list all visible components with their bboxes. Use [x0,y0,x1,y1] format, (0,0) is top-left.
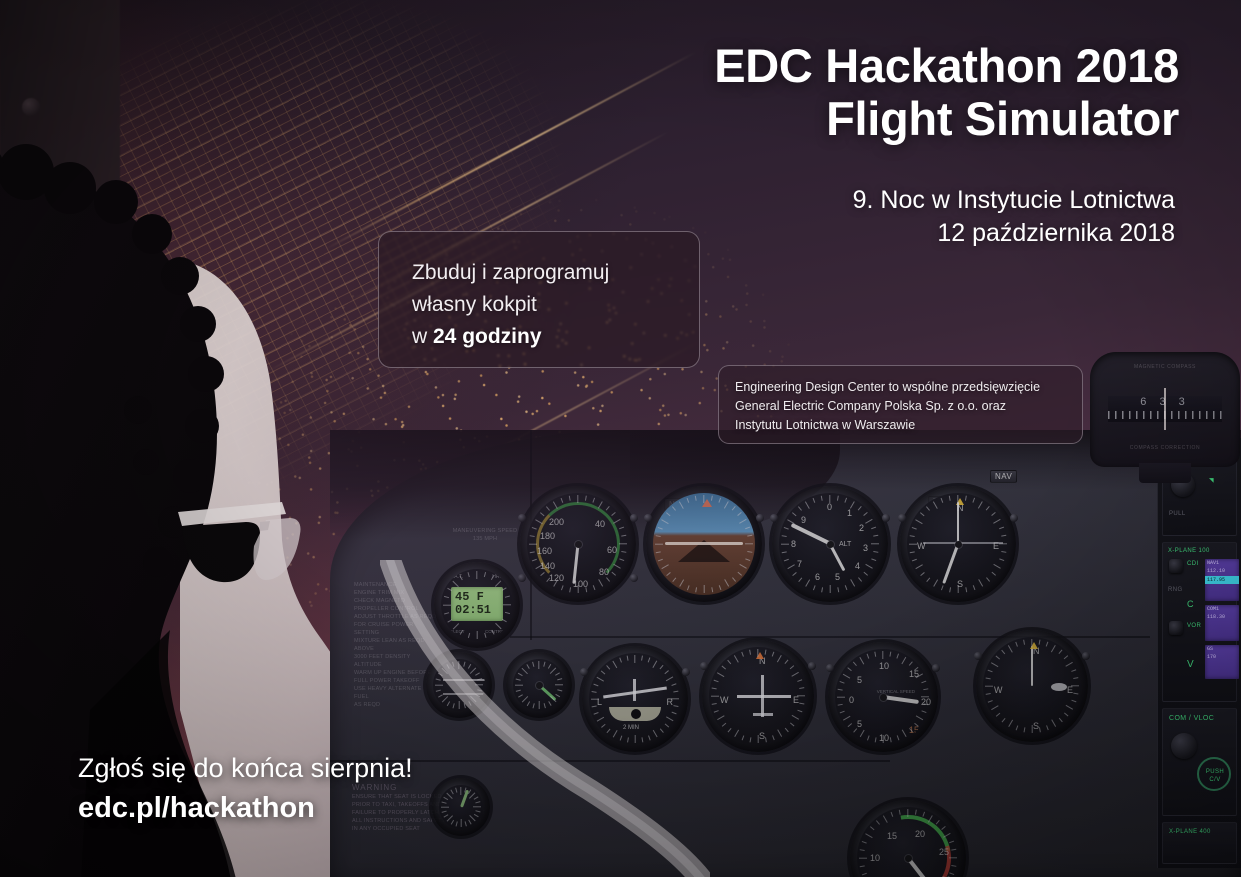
panel-screw [826,664,834,672]
gauge-tick [569,496,571,501]
gauge-tick [1065,705,1073,710]
horizontal-situation-indicator: N E S W [702,640,814,752]
gauge-tick [865,519,873,524]
gauge-tick [661,519,669,524]
vsi-number-10dn: 10 [879,733,889,743]
avionics-screen-row: COM1 [1205,605,1239,613]
gauge-tick [996,712,1001,716]
gauge-tick [916,715,924,720]
dg-needle [957,502,960,544]
gauge-tick [1015,725,1018,730]
gauge-tick [850,501,855,509]
gauge-tick [813,498,816,503]
gauge-tick [739,519,747,524]
vsi-face: 0 5 10 15 20 5 10 15 VERTICAL SPEED [835,649,931,745]
gauge-tick [621,535,626,537]
gauge-tick [837,496,839,501]
gauge-tick [978,579,983,587]
gauge-tick [666,512,671,516]
altimeter-needle-hundreds [790,523,831,546]
gauge-tick [933,501,938,509]
gauge-tick [923,688,928,690]
vsi-number-zero: 0 [849,695,854,705]
radio-magnetic-indicator: N E S W [976,630,1088,742]
gauge-tick [862,841,867,844]
avionics-screen-row-active: 117.95 [1205,576,1239,584]
gauge-tick [732,577,736,582]
gauge-tick [991,512,996,516]
gauge-tick [838,703,843,705]
gauge-tick [941,826,946,830]
gauge-tick [724,501,729,509]
cta-line-1: Zbuduj i zaprogramuj [412,257,699,289]
rmi-needle [1031,646,1034,686]
alt-number: 1 [847,508,852,518]
gauge-tick [1046,642,1049,647]
avionics-button-cdi[interactable] [1169,559,1183,573]
gauge-tick [862,872,867,875]
gauge-tick [896,735,899,740]
gauge-tick [871,558,876,561]
alt-number: 5 [835,572,840,582]
gauge-tick [926,577,930,582]
gauge-tick [790,722,795,726]
gauge-tick [621,551,626,553]
panel-screw [882,514,890,522]
airspeed-hub [575,541,582,548]
compass-mount [1139,463,1191,483]
gauge-tick [805,579,810,587]
avionics-indicator-label: ◥ [1209,477,1214,484]
gauge-tick [658,527,663,530]
gauge-tick [909,543,917,544]
gauge-tick [991,662,999,667]
gauge-tick [889,737,891,742]
gauge-tick [844,585,847,590]
gauge-tick [687,498,690,503]
gauge-tick [787,564,795,569]
rmi-cardinal-w: W [994,685,1003,695]
gauge-tick [907,809,908,817]
attitude-horizon-bar [665,542,743,545]
gauge-tick [972,498,975,503]
avionics-screen-aux: GS 170 [1205,645,1239,679]
gauge-tick [727,660,731,665]
gauge-tick [784,527,789,530]
gauge-tick [1008,719,1013,727]
gauge-tick [921,696,929,697]
avionics-stack: ◥ PULL X-PLANE 100 NAV1 112.10 117.95 CO… [1157,438,1241,868]
gauge-tick [757,735,758,743]
vertical-speed-indicator: 0 5 10 15 20 5 10 15 VERTICAL SPEED [828,642,938,752]
gauge-tick [540,512,545,516]
gauge-tick [613,519,621,524]
gauge-tick [858,577,862,582]
avionics-unit-bottom[interactable]: X-PLANE 400 [1162,822,1237,864]
nav-tag: NAV [990,470,1017,483]
gauge-tick [985,685,993,686]
gauge-tick [1065,662,1073,667]
altimeter-hub [827,541,834,548]
gauge-tick [737,512,742,516]
gauge-tick [611,512,616,516]
gauge-tick [532,527,537,530]
poster-root: N1725P NAV TEST MANEUVERING SPEED135 MPH… [0,0,1241,877]
gauge-tick [986,693,991,695]
gauge-tick [717,672,725,677]
tach-red-line [857,807,959,877]
panel-screw [644,514,652,522]
gauge-tick [859,857,867,858]
panel-screw [756,514,764,522]
gauge-tick [999,543,1007,544]
alt-number: 4 [855,561,860,571]
panel-screw [1010,514,1018,522]
gauge-tick [915,810,917,815]
gauge-tick [741,735,744,740]
gauge-tick [529,543,537,544]
placard-speeds: MANEUVERING SPEED135 MPH [440,528,530,544]
gauge-tick [711,496,713,501]
gauge-tick [896,654,899,659]
gauge-tick [891,812,894,817]
vsi-number-20: 20 [921,697,931,707]
tach-number: 15 [887,831,897,841]
gauge-tick [920,512,925,516]
cta-line-3-emphasis: 24 godziny [433,325,542,348]
vsi-needle [883,695,919,704]
asi-number: 160 [537,546,552,556]
gauge-tick [936,820,940,825]
gauge-tick [829,585,830,593]
gauge-tick [1039,640,1041,645]
com-vloc-label: COM / VLOC [1169,715,1214,722]
gauge-tick [921,710,926,713]
gauge-tick [874,737,876,742]
gauge-tick [988,669,993,672]
gauge-tick [799,703,804,705]
gauge-tick [1039,727,1041,732]
gauge-tick [798,506,802,511]
gauge-tick [840,681,845,684]
gauge-tick [695,496,697,501]
gauge-tick [656,551,661,553]
gauge-tick [813,585,816,590]
compass-top-placard: MAGNETIC COMPASS [1112,364,1218,370]
alt-number: 0 [827,502,832,512]
gauge-tick [993,564,1001,569]
avionics-screen-row: GS [1205,645,1239,653]
gauge-tick [901,657,906,665]
gauge-tick [972,585,975,590]
gauge-tick [882,651,883,659]
gauge-tick [859,657,864,665]
altimeter-face: 0 1 2 3 4 5 6 7 8 9 ALT [779,493,881,595]
gauge-tick [951,865,956,867]
gauge-tick [837,696,845,697]
gauge-tick [986,506,990,511]
avionics-button-label: VOR [1187,623,1201,629]
avionics-unit-label: X-PLANE 400 [1169,829,1211,835]
gauge-tick [988,700,993,703]
gauge-tick [865,564,873,569]
gauge-tick [1073,693,1078,695]
gauge-tick [870,826,875,830]
gauge-tick [724,579,729,587]
gauge-tick [1064,655,1069,659]
gauge-tick [791,715,799,720]
cta-line-3: w 24 godziny [412,321,699,353]
hsi-face: N E S W [709,647,807,745]
poster-subtitle: 9. Noc w Instytucie Lotnictwa 12 paździe… [853,184,1175,249]
gauge-tick [546,506,550,511]
poster-title: EDC Hackathon 2018 Flight Simulator [714,40,1179,145]
gauge-tick [821,496,823,501]
footer-url[interactable]: edc.pl/hackathon [78,790,413,826]
gauge-tick [749,650,751,655]
gauge-tick [734,729,739,737]
gauge-tick [843,715,851,720]
subtitle-line-1: 9. Noc w Instytucie Lotnictwa [853,184,1175,217]
gauge-tick [860,849,865,851]
gauge-tick [1058,718,1062,723]
gauge-tick [790,665,795,669]
magnetic-compass: MAGNETIC COMPASS 6 3 3 COMPASS CORRECTIO… [1090,352,1240,467]
avionics-unit-com-vloc[interactable]: COM / VLOC PUSHC/V [1162,708,1237,816]
asi-number: 40 [595,519,605,529]
gauge-tick [784,728,788,733]
alt-number: 3 [863,543,868,553]
gauge-tick [717,715,725,720]
gauge-tick [1031,725,1032,733]
footer-deadline-text: Zgłoś się do końca sierpnia! [78,752,413,784]
gauge-tick [727,728,731,733]
gauge-tick [561,498,564,503]
gauge-tick [791,672,799,677]
gauge-tick [592,498,595,503]
gauge-tick [732,506,736,511]
gauge-tick [850,579,855,587]
gauge-tick [965,496,967,501]
gauge-tick [843,673,851,678]
panel-screw [898,514,906,522]
gauge-tick [656,535,661,537]
avionics-screen-row: NAV1 [1205,559,1239,567]
gauge-tick [986,577,990,582]
gauge-tick [1023,727,1025,732]
gauge-tick [1031,639,1032,647]
rmi-aircraft-symbol [1051,683,1067,691]
avionics-sublabel: RNG [1168,587,1183,593]
dg-hub [955,541,962,548]
gauge-tick [991,705,999,710]
gauge-tick [860,865,865,867]
hsi-aircraft-tail [753,713,773,716]
gauge-tick [1051,645,1056,653]
compass-bottom-placard: COMPASS CORRECTION [1112,445,1218,451]
gauge-tick [829,495,830,503]
panel-screw [630,514,638,522]
gauge-tick [1015,642,1018,647]
poster-footer: Zgłoś się do końca sierpnia! edc.pl/hack… [78,752,413,827]
gauge-tick [782,535,787,537]
gauge-tick [765,737,767,742]
organizer-info-box: Engineering Design Center to wspólne prz… [718,365,1083,444]
gauge-tick [722,722,727,726]
dg-needle-tail [942,544,959,584]
panel-screw [932,664,940,672]
gauge-tick [922,812,925,817]
gauge-tick [792,512,797,516]
gauge-tick [1071,669,1076,672]
gauge-tick [805,501,810,509]
gauge-tick [863,572,868,576]
vsi-number-5dn: 5 [857,719,862,729]
cta-line-3-prefix: w [412,325,433,348]
gauge-tick [535,519,543,524]
gauge-tick [889,652,891,657]
gauge-tick [920,572,925,576]
altimeter-label: ALT [839,541,851,548]
gauge-tick [777,729,782,737]
gauge-tick [1064,712,1069,716]
gauge-tick [912,527,917,530]
avionics-push-label: PUSHC/V [1205,769,1225,785]
tach-number: 20 [915,829,925,839]
gauge-tick [912,558,917,561]
gauge-tick [619,527,624,530]
alt-number: 6 [815,572,820,582]
gauge-tick [996,655,1001,659]
gauge-tick [965,587,967,592]
gauge-tick [1001,650,1005,655]
gauge-tick [949,587,951,592]
gauge-tick [941,498,944,503]
avionics-tuning-knob[interactable] [1171,733,1197,759]
gauge-tick [821,587,823,592]
avionics-unit-gps[interactable]: X-PLANE 100 NAV1 112.10 117.95 COM1 118.… [1162,542,1237,702]
gauge-tick [910,535,915,537]
gauge-tick [993,519,1001,524]
avionics-button-vor[interactable] [1169,621,1183,635]
gauge-tick [867,654,870,659]
panel-screw [808,662,816,670]
panel-screw [1082,652,1090,660]
gauge-tick [672,506,676,511]
gauge-tick [837,587,839,592]
gauge-tick [739,564,747,569]
gauge-tick [745,543,753,544]
avionics-button-label: CDI [1187,561,1199,567]
asi-number: 200 [549,517,564,527]
gauge-tick [1071,685,1079,686]
gauge-tick [899,810,901,815]
gauge-tick [747,551,752,553]
hsi-cardinal-w: W [720,695,729,705]
gauge-tick [871,543,879,544]
gauge-tick [867,735,870,740]
gauge-tick [799,687,804,689]
gauge-tick [1023,640,1025,645]
gauge-tick [949,857,957,858]
vsi-number-10up: 10 [879,661,889,671]
gauge-tick [1058,650,1062,655]
hsi-aircraft-body [761,675,764,717]
gauge-tick [951,849,956,851]
gauge-tick [844,498,847,503]
gauge-tick [1001,535,1006,537]
vsi-hub [880,694,887,701]
gauge-tick [765,650,767,655]
gauge-tick [863,512,868,516]
gauge-tick [619,543,627,544]
gauge-tick [718,498,721,503]
gauge-tick [797,710,802,713]
gauge-tick [797,695,805,696]
hsi-aircraft-wing [737,695,791,698]
gauge-tick [772,735,775,740]
rmi-face: N E S W [983,637,1081,735]
gauge-tick [978,501,983,509]
gauge-tick [1046,725,1049,730]
gauge-tick [957,585,958,593]
gauge-tick [991,572,996,576]
gauge-tick [772,652,775,657]
gauge-tick [718,585,721,590]
gauge-tick [873,551,878,553]
info-line-3: Instytutu Lotnictwa w Warszawie [735,416,1082,435]
avionics-screen-row: 112.10 [1205,567,1239,575]
gauge-tick [915,519,923,524]
avionics-screen-nav: NAV1 112.10 117.95 [1205,559,1239,601]
gauge-tick [798,577,802,582]
gauge-tick [909,661,913,666]
gauge-tick [847,667,852,671]
gauge-tick [847,723,852,727]
alt-number: 7 [797,559,802,569]
shoulder-harness-strap [380,560,710,877]
panel-screw [974,652,982,660]
avionics-unit-label: X-PLANE 100 [1168,548,1210,554]
gauge-tick [703,495,704,503]
gauge-tick [910,551,915,553]
gauge-tick [577,495,578,503]
gauge-tick [714,710,719,713]
gauge-tick [737,572,742,576]
gauge-tick [530,551,535,553]
avionics-button-label: V [1187,659,1194,670]
challenge-callout-box: Zbuduj i zaprogramuj własny kokpit w 24 … [378,231,700,368]
gauge-tick [1073,677,1078,679]
gauge-tick [714,679,719,682]
gauge-tick [782,551,787,553]
directional-gyro-face: N E S W [907,493,1009,595]
gauge-tick [873,535,878,537]
gauge-tick [530,535,535,537]
panel-screw [518,514,526,522]
gauge-tick [1008,645,1013,653]
compass-lubber-line [1164,388,1166,430]
title-line-1: EDC Hackathon 2018 [714,40,1179,93]
gauge-tick [734,655,739,663]
tachometer-face: 5 10 15 20 25 30 [857,807,959,877]
gauge-tick [986,677,991,679]
gauge-tick [874,652,876,657]
gauge-tick [853,728,857,733]
title-line-2: Flight Simulator [714,93,1179,146]
avionics-screen-row: 118.30 [1205,613,1239,621]
subtitle-line-2: 12 października 2018 [853,217,1175,250]
